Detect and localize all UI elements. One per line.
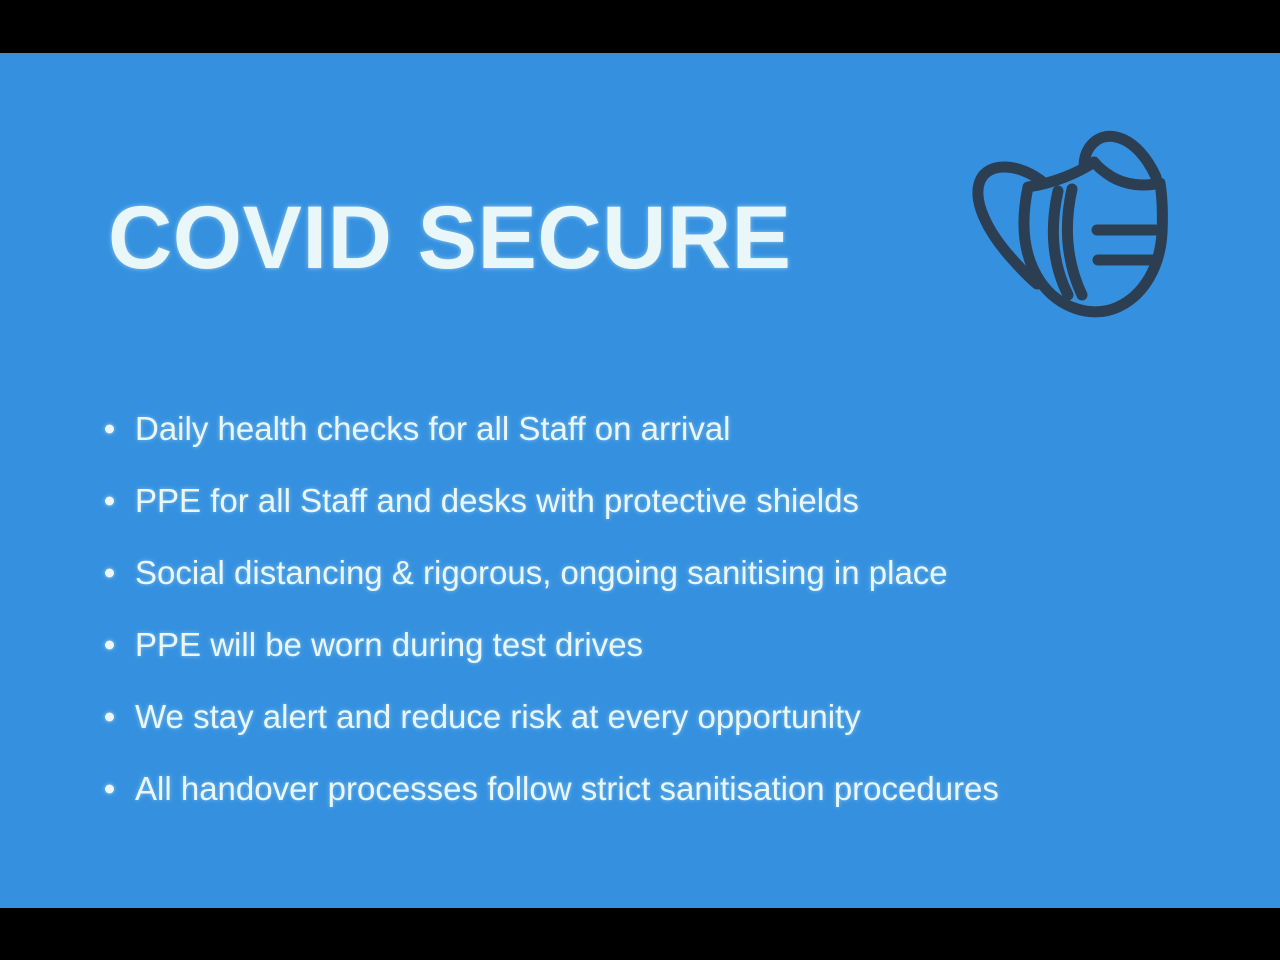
list-item: Daily health checks for all Staff on arr… [102, 393, 1222, 465]
list-item: All handover processes follow strict san… [102, 753, 1222, 825]
bullet-dot-icon [105, 641, 114, 650]
list-item: PPE for all Staff and desks with protect… [102, 465, 1222, 537]
letterbox-bar-top [0, 0, 1280, 53]
bullet-list: Daily health checks for all Staff on arr… [102, 393, 1222, 825]
page-title: COVID SECURE [108, 193, 792, 282]
bullet-dot-icon [105, 425, 114, 434]
list-item: We stay alert and reduce risk at every o… [102, 681, 1222, 753]
bullet-dot-icon [105, 713, 114, 722]
list-item-label: Daily health checks for all Staff on arr… [135, 411, 731, 447]
list-item-label: PPE for all Staff and desks with protect… [135, 483, 859, 519]
bullet-dot-icon [105, 497, 114, 506]
list-item-label: We stay alert and reduce risk at every o… [135, 699, 861, 735]
list-item-label: All handover processes follow strict san… [135, 771, 999, 807]
slide-canvas: COVID SECURE Daily health checks for [0, 53, 1280, 908]
bullet-dot-icon [105, 569, 114, 578]
presentation-slide: COVID SECURE Daily health checks for [0, 0, 1280, 960]
bullet-dot-icon [105, 785, 114, 794]
list-item-label: PPE will be worn during test drives [135, 627, 643, 663]
letterbox-bar-bottom [0, 908, 1280, 960]
list-item-label: Social distancing & rigorous, ongoing sa… [135, 555, 948, 591]
list-item: PPE will be worn during test drives [102, 609, 1222, 681]
list-item: Social distancing & rigorous, ongoing sa… [102, 537, 1222, 609]
face-mask-icon [958, 115, 1194, 330]
